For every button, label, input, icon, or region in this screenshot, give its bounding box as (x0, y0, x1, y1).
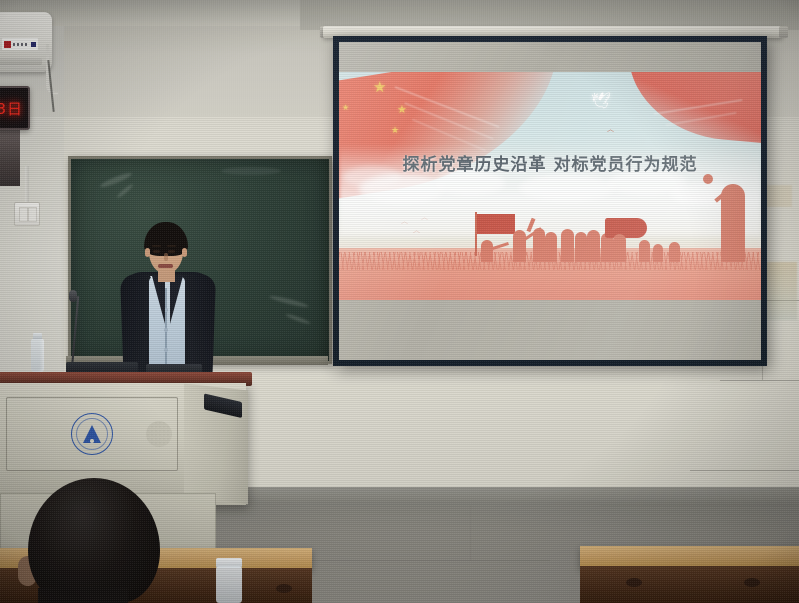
wall-joint (690, 470, 799, 471)
presenter-mouth (158, 264, 173, 268)
bird-icon: ︿ (607, 126, 614, 133)
red-banner (605, 218, 647, 238)
silhouette-figure (561, 229, 574, 262)
red-banner (477, 214, 515, 234)
silhouette-figure (639, 240, 650, 262)
flag-star-icon: ★ (391, 126, 399, 135)
badge-text-lines (13, 43, 29, 46)
silhouette-figure (533, 228, 545, 262)
silhouette-figure (587, 230, 600, 262)
air-conditioner-badge (2, 38, 38, 50)
wall-joint (300, 560, 550, 561)
wall-conduit (25, 166, 29, 206)
projection-screen[interactable]: ★ ★ ★ ★ 🕊 ︿ ︿ ︿ ︿ (333, 36, 767, 366)
badge-red-square (4, 41, 11, 48)
presentation-slide: ★ ★ ★ ★ 🕊 ︿ ︿ ︿ ︿ (339, 72, 761, 300)
silhouette-figure (653, 244, 663, 262)
podium-control-slot[interactable] (204, 393, 242, 418)
led-display: 3日 (0, 86, 30, 130)
wall-switch-plate[interactable] (14, 202, 40, 226)
air-conditioner-vent (0, 58, 42, 65)
slide-title: 探析党章历史沿革 对标党员行为规范 (339, 150, 761, 175)
desk-fitting (626, 578, 642, 587)
emblem-a-mark (83, 425, 101, 443)
podium-water-bottle[interactable] (31, 339, 44, 372)
podium-side-panel (184, 384, 248, 505)
light-switch[interactable] (28, 207, 37, 222)
presenter-lapel (152, 276, 165, 324)
screen-roller-bracket (779, 26, 788, 38)
university-emblem-icon (71, 413, 113, 455)
presenter-nose (164, 253, 168, 261)
silhouette-bugler (703, 174, 713, 184)
flag-star-icon: ★ (373, 80, 386, 95)
desk-fitting (276, 584, 292, 593)
air-conditioner (0, 12, 52, 72)
light-switch[interactable] (19, 207, 28, 222)
silhouette-figure (613, 234, 626, 262)
desk-water-bottle[interactable] (216, 566, 242, 603)
wall-joint (720, 380, 799, 381)
desk-fitting (744, 578, 760, 587)
desk-right-front (580, 566, 799, 603)
lecture-hall-photo: 3日 ★ ★ ★ ★ (0, 0, 799, 603)
emblem-inner-dot (90, 439, 94, 443)
flag-star-icon: ★ (397, 105, 407, 116)
badge-blue-square (31, 42, 36, 47)
desk-right (580, 546, 799, 568)
flag-star-icon: ★ (342, 104, 349, 112)
screen-surface: ★ ★ ★ ★ 🕊 ︿ ︿ ︿ ︿ (339, 42, 761, 360)
microphone-icon (69, 290, 77, 302)
silhouette-figure (513, 230, 526, 262)
silhouette-figure (545, 232, 557, 262)
silhouette-figure (575, 232, 587, 262)
led-display-text: 3日 (0, 98, 23, 119)
podium-speaker-grille (146, 421, 172, 447)
wall-notice-remnant (764, 262, 797, 320)
wall-joint (470, 505, 471, 561)
silhouette-figure (669, 242, 680, 262)
led-display-housing (0, 130, 20, 186)
student-neck (38, 588, 128, 603)
wall-joint (600, 505, 799, 506)
presenter-lapel (170, 276, 183, 324)
silhouette-figure (481, 240, 493, 262)
dove-icon: 🕊 (591, 94, 611, 110)
